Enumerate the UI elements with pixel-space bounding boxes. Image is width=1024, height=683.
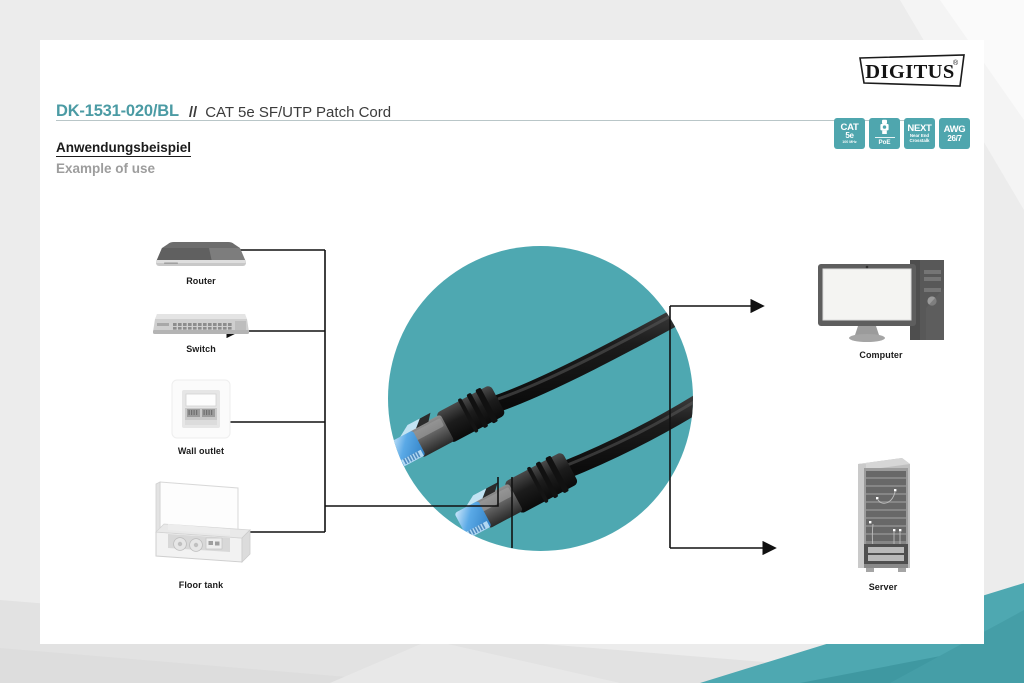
awg-badge-line1: AWG xyxy=(944,125,966,134)
next-badge: NEXT Near End Crosstalk xyxy=(904,118,935,149)
header-divider xyxy=(56,120,928,121)
poe-connector-icon xyxy=(878,119,891,136)
next-badge-line1: NEXT xyxy=(907,124,931,133)
logo-wordmark: DIGITUS xyxy=(865,61,954,83)
device-label-wall-outlet: Wall outlet xyxy=(178,446,224,456)
desktop-computer-icon xyxy=(814,258,948,344)
next-badge-sub: Near End Crosstalk xyxy=(909,134,929,143)
product-sku: DK-1531-020/BL xyxy=(56,102,179,121)
header-separator: // xyxy=(189,104,197,121)
feature-badges: CAT 5e 100 MHz PoE NEXT Near End Crossta… xyxy=(834,118,970,149)
wall-outlet-icon xyxy=(170,378,232,440)
device-wall-outlet: Wall outlet xyxy=(118,378,284,456)
application-diagram: Router xyxy=(40,190,984,644)
poe-badge: PoE xyxy=(869,118,900,149)
device-label-switch: Switch xyxy=(186,344,216,354)
poe-badge-label: PoE xyxy=(875,137,895,146)
device-label-floor-tank: Floor tank xyxy=(179,580,224,590)
device-label-server: Server xyxy=(869,582,898,592)
section-heading-en: Example of use xyxy=(56,161,155,176)
device-floor-tank: Floor tank xyxy=(108,478,294,590)
device-switch: Switch xyxy=(118,308,284,354)
device-router: Router xyxy=(118,240,284,286)
device-server: Server xyxy=(800,452,966,592)
router-icon xyxy=(154,240,248,270)
cat5e-badge-line3: 100 MHz xyxy=(842,140,856,144)
section-heading-de: Anwendungsbeispiel xyxy=(56,140,191,157)
server-tower-icon xyxy=(852,452,914,576)
cat5e-badge-line2: 5e xyxy=(845,132,853,140)
device-label-computer: Computer xyxy=(859,350,902,360)
product-name: CAT 5e SF/UTP Patch Cord xyxy=(205,104,391,121)
product-header: DK-1531-020/BL // CAT 5e SF/UTP Patch Co… xyxy=(56,95,968,121)
cat5e-badge: CAT 5e 100 MHz xyxy=(834,118,865,149)
floor-tank-icon xyxy=(142,478,260,574)
awg-badge-line2: 26/7 xyxy=(947,135,961,143)
switch-icon xyxy=(151,308,251,338)
device-computer: Computer xyxy=(788,258,974,360)
awg-badge: AWG 26/7 xyxy=(939,118,970,149)
content-card: DIGITUS ® DK-1531-020/BL // CAT 5e SF/UT… xyxy=(40,40,984,644)
digitus-logo: DIGITUS ® xyxy=(856,52,968,90)
logo-trademark-icon: ® xyxy=(953,59,959,67)
device-label-router: Router xyxy=(186,276,216,286)
